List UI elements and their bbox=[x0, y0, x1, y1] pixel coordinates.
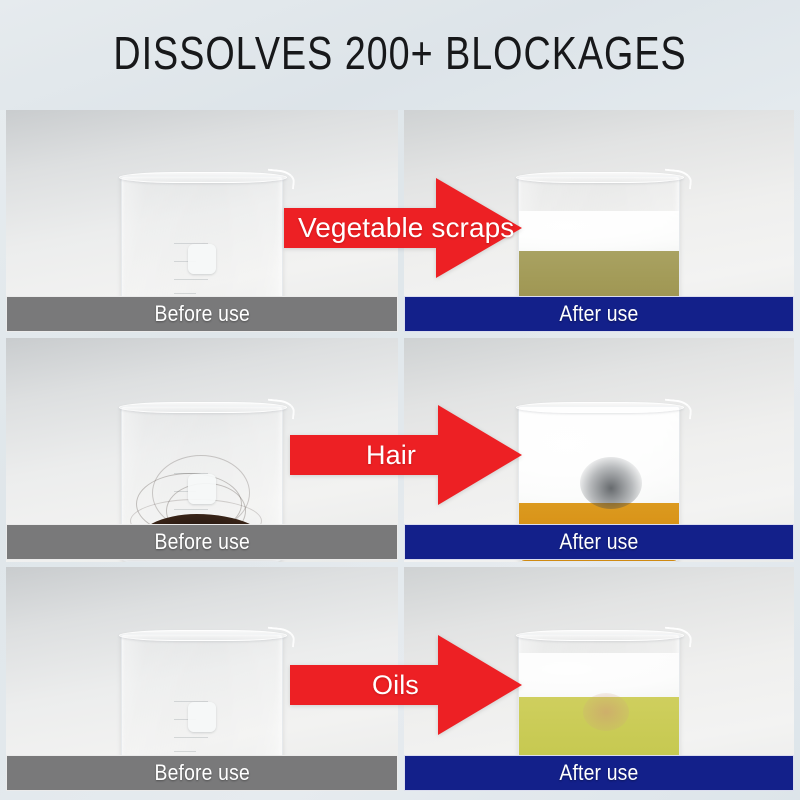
beaker-rim bbox=[119, 172, 287, 183]
before-use-label-bar: Before use bbox=[6, 296, 398, 332]
dispersed-residue bbox=[580, 457, 642, 509]
before-use-label-bar: Before use bbox=[6, 755, 398, 791]
foam-layer bbox=[519, 211, 679, 251]
header-banner: DISSOLVES 200+ BLOCKAGES bbox=[0, 0, 800, 110]
beaker-rim bbox=[516, 630, 684, 641]
foam-layer bbox=[519, 653, 679, 697]
beaker-rim bbox=[516, 402, 684, 413]
page-title: DISSOLVES 200+ BLOCKAGES bbox=[72, 26, 728, 80]
residue-blob bbox=[583, 693, 629, 731]
before-use-label-bar: Before use bbox=[6, 524, 398, 560]
beaker-rim bbox=[516, 172, 684, 183]
after-use-label-bar: After use bbox=[404, 524, 794, 560]
after-use-label: After use bbox=[559, 760, 638, 786]
after-use-label-bar: After use bbox=[404, 296, 794, 332]
before-use-label: Before use bbox=[154, 529, 249, 555]
beaker-rim bbox=[119, 630, 287, 641]
after-use-label: After use bbox=[559, 529, 638, 555]
after-use-label: After use bbox=[559, 301, 638, 327]
comparison-row-vegetable-scraps: Before use After use bbox=[0, 110, 800, 338]
beaker-rim bbox=[119, 402, 287, 413]
after-use-label-bar: After use bbox=[404, 755, 794, 791]
before-use-label: Before use bbox=[154, 760, 249, 786]
comparison-row-oils: Before use After use bbox=[0, 567, 800, 800]
beaker-label-tag bbox=[188, 702, 216, 732]
comparison-row-hair: Before use After use bbox=[0, 338, 800, 567]
beaker-label-tag bbox=[188, 244, 216, 274]
beaker-label-tag bbox=[188, 474, 216, 504]
product-comparison-infographic: DISSOLVES 200+ BLOCKAGES bbox=[0, 0, 800, 800]
before-use-label: Before use bbox=[154, 301, 249, 327]
